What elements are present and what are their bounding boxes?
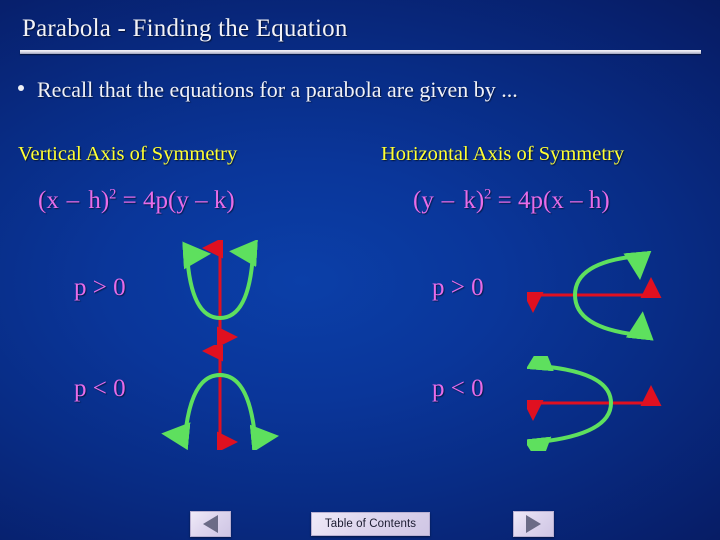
equation-vertical-lhs-open: (x bbox=[38, 187, 59, 214]
equation-horizontal-rhs: = 4p(x – h) bbox=[491, 187, 609, 214]
column-header-horizontal: Horizontal Axis of Symmetry bbox=[381, 142, 624, 166]
slide-canvas: Parabola - Finding the Equation Recall t… bbox=[0, 0, 720, 540]
figure-parabola-opens-left bbox=[527, 356, 662, 456]
figure-parabola-opens-right-svg bbox=[527, 248, 662, 343]
figure-parabola-opens-up-svg bbox=[155, 240, 285, 345]
figure-parabola-opens-down bbox=[155, 345, 285, 455]
p-label-vertical-negative: p < 0 bbox=[74, 375, 126, 403]
p-label-horizontal-negative: p < 0 bbox=[432, 375, 484, 403]
figure-parabola-opens-right bbox=[527, 248, 662, 348]
equation-vertical-lhs-var: h) bbox=[88, 187, 109, 214]
equation-horizontal-lhs-var: k) bbox=[463, 187, 484, 214]
title-divider bbox=[20, 50, 701, 54]
page-title: Parabola - Finding the Equation bbox=[22, 14, 348, 44]
equation-vertical-rhs: = 4p(y – k) bbox=[116, 187, 234, 214]
table-of-contents-button[interactable]: Table of Contents bbox=[311, 512, 430, 536]
figure-parabola-opens-up bbox=[155, 240, 285, 350]
equation-horizontal: (y – k)2 = 4p(x – h) bbox=[413, 186, 610, 216]
figure-parabola-opens-left-svg bbox=[527, 356, 662, 451]
bullet-dot-icon bbox=[18, 85, 24, 91]
figure-parabola-opens-down-svg bbox=[155, 345, 285, 450]
equation-horizontal-lhs-open: (y bbox=[413, 187, 434, 214]
next-slide-button[interactable] bbox=[513, 511, 554, 537]
equation-vertical: (x – h)2 = 4p(y – k) bbox=[38, 186, 235, 216]
equation-horizontal-minus: – bbox=[434, 187, 464, 214]
p-label-vertical-positive: p > 0 bbox=[74, 274, 126, 302]
previous-slide-button[interactable] bbox=[190, 511, 231, 537]
triangle-left-icon bbox=[203, 515, 218, 533]
bullet-row: Recall that the equations for a parabola… bbox=[18, 76, 518, 103]
bullet-text: Recall that the equations for a parabola… bbox=[37, 76, 518, 103]
p-label-horizontal-positive: p > 0 bbox=[432, 274, 484, 302]
equation-vertical-minus: – bbox=[59, 187, 89, 214]
column-header-vertical: Vertical Axis of Symmetry bbox=[18, 142, 237, 166]
triangle-right-icon bbox=[526, 515, 541, 533]
